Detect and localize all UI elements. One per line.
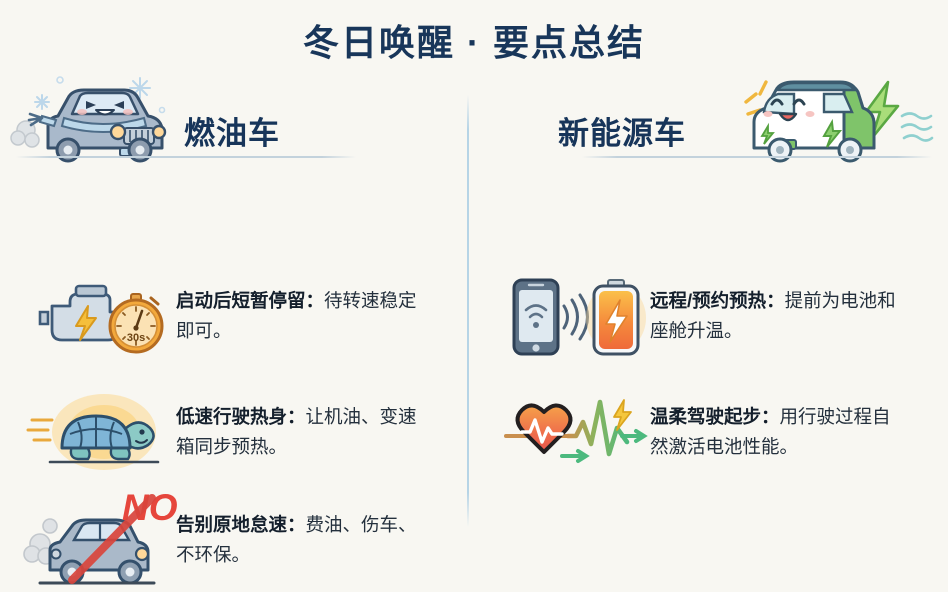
list-item-text: 温柔驾驶起步：用行驶过程自然激活电池性能。: [650, 402, 900, 462]
section-heading-gasoline: 燃油车: [184, 108, 280, 153]
list-item-lead: 低速行驶热身：: [176, 406, 306, 427]
list-item-text: 低速行驶热身：让机油、变速箱同步预热。: [176, 402, 426, 462]
page-title: 冬日唤醒 · 要点总结: [0, 14, 948, 66]
section-underline-gasoline: [16, 156, 356, 158]
section-gasoline: 燃油车: [8, 72, 463, 532]
list-item-lead: 启动后短暂停留：: [176, 290, 324, 311]
section-new-energy-header: 新能源车: [486, 72, 941, 158]
section-heading-new-energy: 新能源车: [558, 108, 686, 153]
list-item: 温柔驾驶起步：用行驶过程自然激活电池性能。: [500, 384, 900, 480]
section-new-energy: 新能源车: [486, 72, 941, 532]
column-divider: [467, 95, 469, 527]
engine-stopwatch-icon: 30s: [26, 268, 176, 364]
list-item-text: 告别原地怠速：费油、伤车、不环保。: [176, 510, 426, 570]
list-item-text: 启动后短暂停留：待转速稳定即可。: [176, 286, 421, 346]
stopwatch-label: 30s: [127, 332, 145, 344]
list-item-lead: 远程/预约预热：: [650, 290, 785, 311]
section-gasoline-header: 燃油车: [8, 72, 463, 158]
no-idling-car-icon: NO: [26, 492, 176, 588]
list-item: 远程/预约预热：提前为电池和座舱升温。: [500, 268, 900, 364]
list-item-lead: 告别原地怠速：: [176, 514, 306, 535]
cartoon-electric-car-icon: [732, 64, 937, 164]
list-item: 30s 启动后短暂停留：待转速稳定即可。: [26, 268, 421, 364]
list-item: 低速行驶热身：让机油、变速箱同步预热。: [26, 384, 426, 480]
heart-pulse-gentle-drive-icon: [500, 384, 650, 480]
cartoon-gasoline-car-icon: [12, 68, 188, 160]
infographic-page: 冬日唤醒 · 要点总结: [0, 0, 948, 538]
turtle-slow-icon: [26, 384, 176, 480]
list-item-text: 远程/预约预热：提前为电池和座舱升温。: [650, 286, 900, 346]
list-item: NO 告别原地怠速：费油、伤车、不环保。: [26, 492, 426, 588]
section-underline-new-energy: [582, 156, 932, 158]
phone-battery-preheat-icon: [500, 268, 650, 364]
list-item-lead: 温柔驾驶起步：: [650, 406, 780, 427]
